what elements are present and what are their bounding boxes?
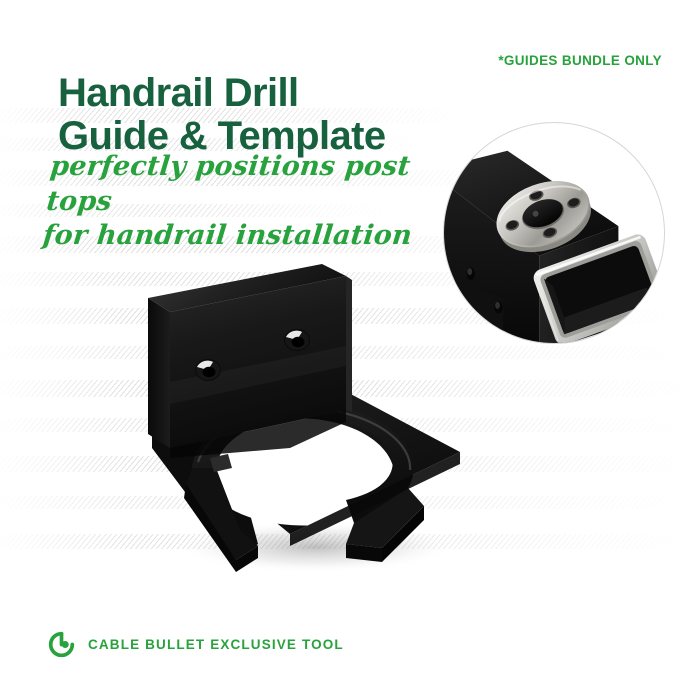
bracket-vertical-plate <box>148 264 352 458</box>
countersunk-hole-right <box>284 329 310 351</box>
bundle-note-badge: *GUIDES BUNDLE ONLY <box>498 53 662 68</box>
product-marketing-poster: Handrail Drill Guide & Template perfectl… <box>0 0 700 700</box>
subtitle-script: perfectly positions post tops for handra… <box>41 150 452 254</box>
footer-brand-bar: CABLE BULLET EXCLUSIVE TOOL <box>48 631 344 658</box>
countersunk-hole-left <box>195 359 221 381</box>
page-title: Handrail Drill Guide & Template <box>58 72 478 158</box>
footer-label: CABLE BULLET EXCLUSIVE TOOL <box>88 637 344 652</box>
cable-bullet-logo-icon <box>48 631 75 658</box>
product-image-bracket <box>140 262 470 582</box>
